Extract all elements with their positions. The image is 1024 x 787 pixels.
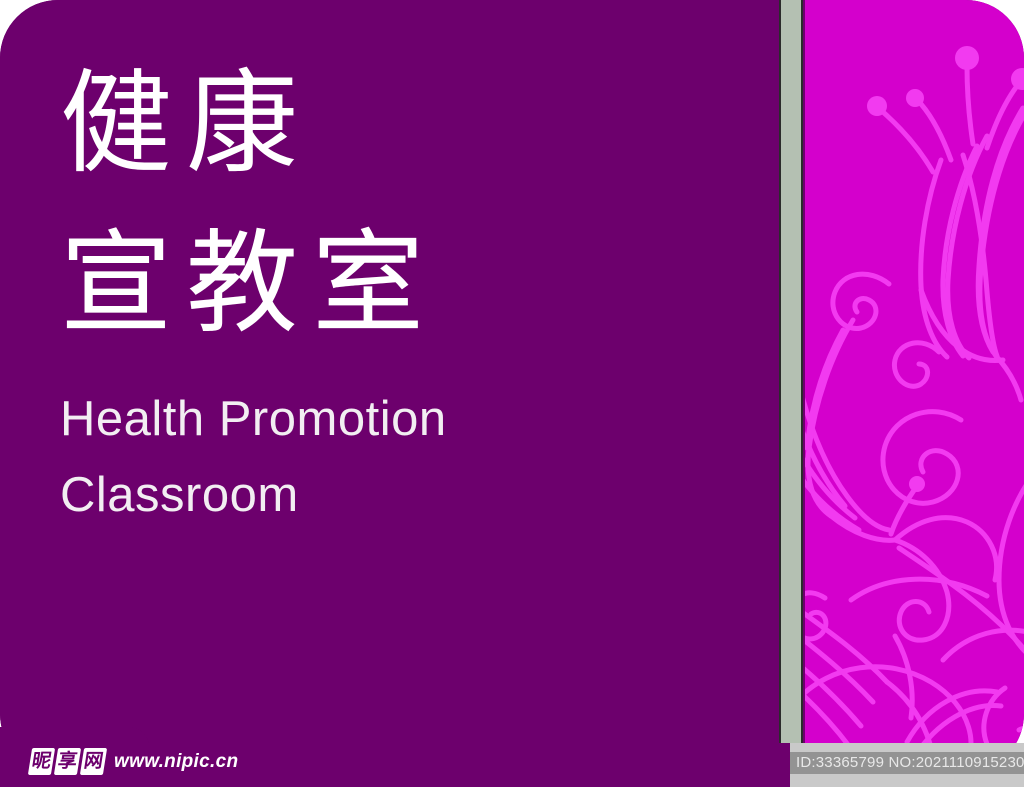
- screenshot-stage: 健康 宣教室 Health Promotion Classroom ID:333…: [0, 0, 1024, 787]
- sign-text-block: 健康 宣教室 Health Promotion Classroom: [60, 44, 760, 534]
- title-chinese: 健康 宣教室: [60, 44, 760, 364]
- sign-board: 健康 宣教室 Health Promotion Classroom: [0, 0, 1024, 772]
- image-id-plate: ID:33365799 NO:20211109152307616106: [790, 752, 1024, 774]
- vertical-divider-strip: [779, 0, 803, 772]
- right-magenta-panel: [805, 0, 1024, 772]
- title-chinese-line-1: 健康: [60, 59, 312, 189]
- title-english: Health Promotion Classroom: [60, 382, 580, 534]
- title-chinese-line-2: 宣教室: [60, 204, 760, 364]
- floral-tulip-ornament-icon: [805, 0, 1024, 772]
